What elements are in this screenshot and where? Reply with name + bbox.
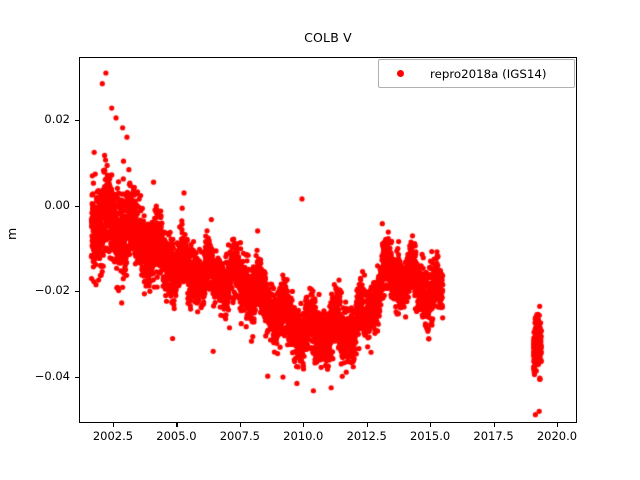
x-tick-mark	[176, 423, 177, 427]
x-tick-label: 2002.5	[93, 429, 133, 443]
y-tick-label: 0.00	[44, 198, 70, 212]
legend-marker-icon	[397, 70, 404, 77]
x-tick-label: 2007.5	[220, 429, 260, 443]
plot-area	[79, 57, 577, 423]
x-tick-mark	[367, 423, 368, 427]
x-tick-label: 2020.0	[537, 429, 577, 443]
y-tick-label: 0.02	[44, 112, 70, 126]
x-tick-mark	[557, 423, 558, 427]
x-tick-mark	[494, 423, 495, 427]
x-tick-label: 2017.5	[473, 429, 513, 443]
x-tick-label: 2005.0	[156, 429, 196, 443]
x-tick-label: 2015.0	[410, 429, 450, 443]
x-tick-mark	[240, 423, 241, 427]
matplotlib-figure: COLB V m 0.020.00−0.02−0.04 2002.52005.0…	[0, 0, 640, 480]
x-tick-mark	[303, 423, 304, 427]
y-tick-label: −0.04	[35, 369, 70, 383]
x-tick-mark	[430, 423, 431, 427]
legend-item-label: repro2018a (IGS14)	[430, 67, 546, 81]
page-title: COLB V	[79, 30, 577, 45]
y-tick-label: −0.02	[35, 283, 70, 297]
x-tick-label: 2010.0	[283, 429, 323, 443]
x-tick-label: 2012.5	[347, 429, 387, 443]
x-tick-mark	[113, 423, 114, 427]
scatter-series-repro2018a	[80, 58, 576, 422]
y-axis-tick-labels: 0.020.00−0.02−0.04	[0, 57, 70, 423]
legend[interactable]: repro2018a (IGS14)	[378, 59, 575, 88]
x-axis-tick-labels: 2002.52005.02007.52010.02012.52015.02017…	[0, 429, 640, 449]
